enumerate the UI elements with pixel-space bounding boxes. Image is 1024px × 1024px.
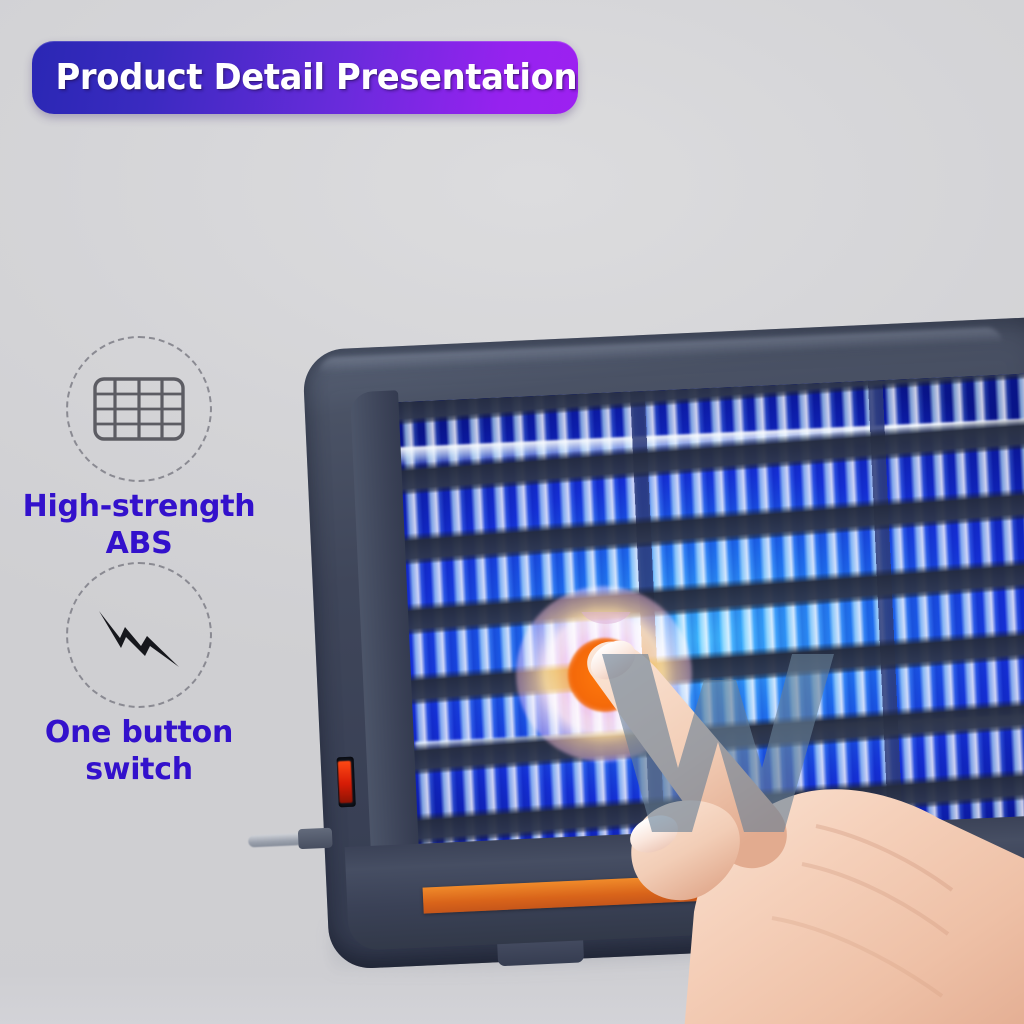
feature-label-switch: One button switch (14, 715, 264, 789)
feature-label-abs-line1: High-strength (14, 489, 264, 526)
power-cord-wire (248, 833, 302, 847)
feature-label-switch-line2: switch (14, 752, 264, 789)
feature-one-button-switch: One button switch (14, 562, 264, 789)
product-detail-image: Product Detail Presentation High-strengt… (0, 0, 1024, 1024)
feature-label-abs-line2: ABS (14, 526, 264, 563)
feature-high-strength-abs: High-strength ABS (14, 336, 264, 563)
title-banner: Product Detail Presentation (32, 41, 578, 114)
grid-panel-icon (92, 376, 186, 442)
feature-icon-circle (66, 336, 212, 482)
feature-icon-circle (66, 562, 212, 708)
feature-label-switch-line1: One button (14, 715, 264, 752)
lightning-bolt-icon (93, 598, 185, 672)
fingertip-highlight (580, 612, 632, 624)
pointing-hand (566, 612, 1024, 1024)
power-cord-strain-relief (298, 828, 333, 850)
feature-label-abs: High-strength ABS (14, 489, 264, 563)
power-switch[interactable] (337, 757, 356, 808)
power-cord (252, 828, 333, 852)
banner-title-text: Product Detail Presentation (32, 57, 577, 98)
